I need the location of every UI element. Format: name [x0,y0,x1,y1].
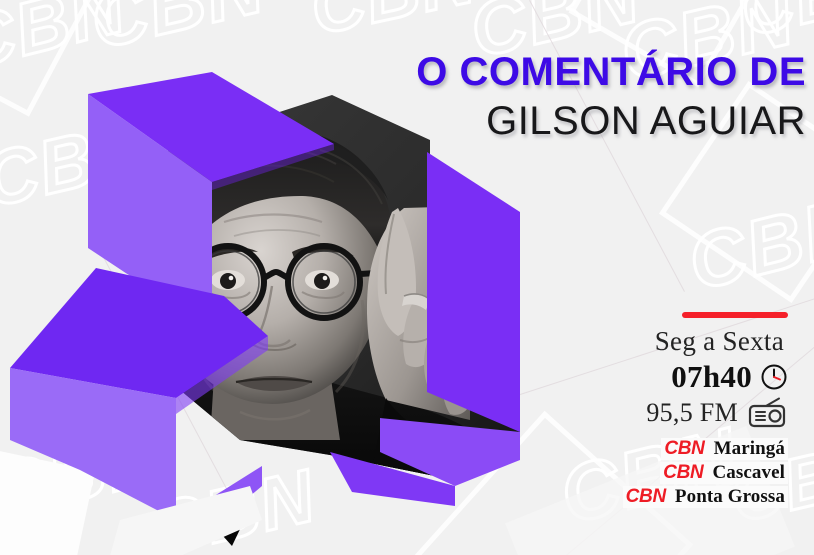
radio-icon [746,397,788,429]
station-brand: CBN [626,486,666,508]
station-item: CBN Ponta Grossa [623,486,788,508]
station-item: CBN Maringá [661,438,788,460]
red-divider [682,312,788,318]
station-list: CBN Maringá CBN Cascavel CBN Ponta Gross… [560,438,788,508]
schedule-frequency: 95,5 FM [646,398,738,428]
station-brand: CBN [663,462,703,484]
schedule-time-row: 07h40 [560,359,788,395]
promo-banner: CBN CBN CBN CBN CBN CBN CBN CBN CBN CBN … [0,0,814,555]
station-city: Maringá [714,438,785,460]
station-item: CBN Cascavel [660,462,788,484]
station-brand: CBN [664,438,704,460]
clock-icon [760,363,788,391]
title-block: O COMENTÁRIO DE GILSON AGUIAR [416,52,806,141]
page-title-line2: GILSON AGUIAR [416,101,806,141]
schedule-time: 07h40 [671,359,752,395]
schedule-block: Seg a Sexta 07h40 95,5 FM [560,312,800,508]
page-title-line1: O COMENTÁRIO DE [416,52,806,92]
station-city: Cascavel [712,462,785,484]
station-city: Ponta Grossa [675,486,785,508]
schedule-frequency-row: 95,5 FM [560,397,788,429]
schedule-days: Seg a Sexta [560,327,784,355]
